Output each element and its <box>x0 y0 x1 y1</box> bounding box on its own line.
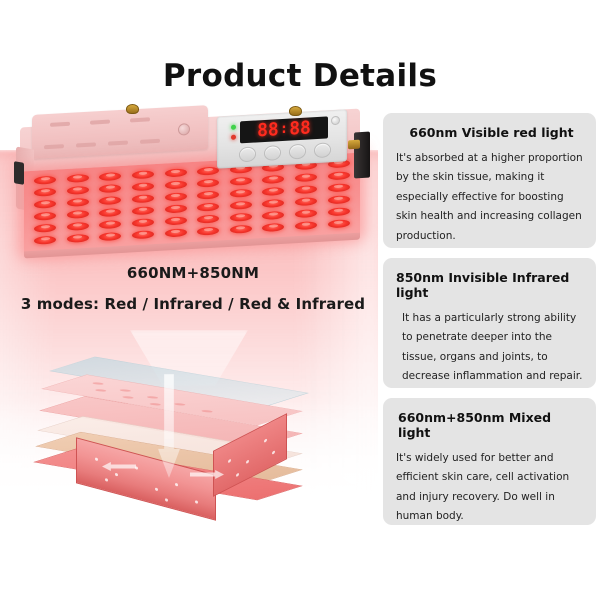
cell-dot <box>121 396 136 399</box>
led-lamp <box>197 226 219 235</box>
led-lamp <box>132 218 154 227</box>
led-lamp <box>34 200 56 209</box>
info-card-mixed: 660nm+850nm Mixed light It's widely used… <box>383 398 596 525</box>
led-lamp <box>99 220 121 229</box>
tissue-speck <box>195 500 198 504</box>
led-lamp <box>295 185 317 194</box>
led-lamp <box>262 211 284 220</box>
control-button-3[interactable] <box>289 144 306 160</box>
led-lamp <box>230 201 252 210</box>
tissue-speck <box>165 498 168 502</box>
led-lamp <box>132 230 154 239</box>
display-colon: : <box>280 122 288 138</box>
card-body: It has a particularly strong ability to … <box>396 309 583 387</box>
led-lamp <box>328 171 350 180</box>
led-lamp <box>262 175 284 184</box>
vent-slot <box>130 117 150 122</box>
led-lamp <box>262 187 284 196</box>
led-lamp <box>295 221 317 230</box>
device-left-port <box>14 161 24 185</box>
cell-dot <box>148 403 163 406</box>
led-lamp <box>262 199 284 208</box>
panel-screw <box>331 116 340 126</box>
led-lamp <box>328 195 350 204</box>
led-lamp <box>99 208 121 217</box>
led-lamp <box>230 177 252 186</box>
display-digits-hours: 88 <box>257 121 279 140</box>
tissue-speck <box>115 473 118 477</box>
led-lamp <box>197 214 219 223</box>
hanging-eyelet-right <box>289 106 302 116</box>
led-lamp <box>34 236 56 245</box>
led-lamp <box>67 222 89 231</box>
led-lamp <box>328 219 350 228</box>
vent-slot <box>44 144 64 149</box>
led-lamp <box>328 183 350 192</box>
card-body: It's widely used for better and efficien… <box>396 449 583 527</box>
skin-layer-diagram <box>62 358 288 510</box>
led-lamp <box>165 168 187 177</box>
power-connector <box>354 132 370 179</box>
led-lamp <box>165 180 187 189</box>
tissue-speck <box>105 478 108 482</box>
product-details-page: Product Details <box>0 0 600 600</box>
display-digits-minutes: 88 <box>289 119 311 138</box>
connector-brass-fitting <box>348 140 360 150</box>
card-title: 660nm Visible red light <box>396 125 583 140</box>
tissue-speck <box>272 450 275 455</box>
timer-display: 88 : 88 <box>240 116 328 143</box>
led-lamp <box>34 224 56 233</box>
led-lamp <box>197 202 219 211</box>
caption-wavelengths: 660NM+850NM <box>20 264 366 282</box>
card-title: 850nm Invisible Infrared light <box>396 270 583 300</box>
led-lamp <box>67 210 89 219</box>
led-lamp <box>165 228 187 237</box>
led-lamp <box>67 174 89 183</box>
tissue-speck <box>228 459 231 464</box>
card-body: It's absorbed at a higher proportion by … <box>396 149 583 246</box>
vent-slot <box>140 139 160 144</box>
led-lamp <box>132 170 154 179</box>
product-caption: 660NM+850NM 3 modes: Red / Infrared / Re… <box>20 264 366 313</box>
hanging-eyelet-left <box>126 104 139 114</box>
tissue-speck <box>236 473 239 478</box>
control-button-4[interactable] <box>314 142 331 158</box>
led-lamp <box>165 204 187 213</box>
info-card-list: 660nm Visible red light It's absorbed at… <box>383 113 596 535</box>
info-card-850nm: 850nm Invisible Infrared light It has a … <box>383 258 596 388</box>
led-lamp <box>165 216 187 225</box>
info-card-660nm: 660nm Visible red light It's absorbed at… <box>383 113 596 248</box>
control-button-2[interactable] <box>264 145 281 161</box>
vent-slot <box>76 142 96 147</box>
page-title: Product Details <box>150 58 450 94</box>
led-lamp <box>197 190 219 199</box>
control-button-row <box>239 142 331 162</box>
cell-dot <box>93 389 108 392</box>
led-lamp <box>132 194 154 203</box>
led-lamp <box>165 192 187 201</box>
led-lamp <box>262 223 284 232</box>
led-lamp <box>34 188 56 197</box>
cell-dot <box>200 410 215 413</box>
led-lamp <box>230 189 252 198</box>
led-therapy-device: 88 : 88 <box>14 104 366 264</box>
led-lamp <box>328 207 350 216</box>
led-lamp <box>99 172 121 181</box>
led-lamp <box>99 196 121 205</box>
led-lamp <box>295 173 317 182</box>
led-lamp <box>99 184 121 193</box>
control-button-1[interactable] <box>239 146 256 162</box>
tissue-speck <box>155 487 158 491</box>
led-lamp <box>132 182 154 191</box>
tissue-speck <box>246 460 249 465</box>
cell-dot <box>145 396 160 399</box>
red-indicator-icon <box>231 135 236 140</box>
led-lamp <box>230 225 252 234</box>
card-title: 660nm+850nm Mixed light <box>396 410 583 440</box>
tissue-speck <box>95 457 98 461</box>
cell-dot <box>91 382 106 385</box>
vent-slot <box>90 120 110 125</box>
led-lamp <box>197 178 219 187</box>
led-lamp <box>34 176 56 185</box>
led-lamp <box>132 206 154 215</box>
tissue-speck <box>175 483 178 487</box>
led-lamp <box>295 209 317 218</box>
led-lamp <box>295 197 317 206</box>
vent-slot <box>50 122 70 127</box>
cell-dot <box>172 403 187 406</box>
green-indicator-icon <box>231 125 236 130</box>
led-lamp <box>99 232 121 241</box>
led-lamp <box>67 186 89 195</box>
led-lamp <box>34 212 56 221</box>
led-lamp <box>67 198 89 207</box>
led-lamp <box>230 213 252 222</box>
control-panel: 88 : 88 <box>217 109 347 168</box>
caption-modes: 3 modes: Red / Infrared / Red & Infrared <box>20 295 366 313</box>
led-grid <box>29 157 355 247</box>
led-lamp <box>67 234 89 243</box>
hanger-screw <box>178 123 190 136</box>
cell-dot <box>118 389 133 392</box>
led-lamp <box>197 166 219 175</box>
tissue-speck <box>264 438 267 443</box>
vent-slot <box>108 141 128 146</box>
